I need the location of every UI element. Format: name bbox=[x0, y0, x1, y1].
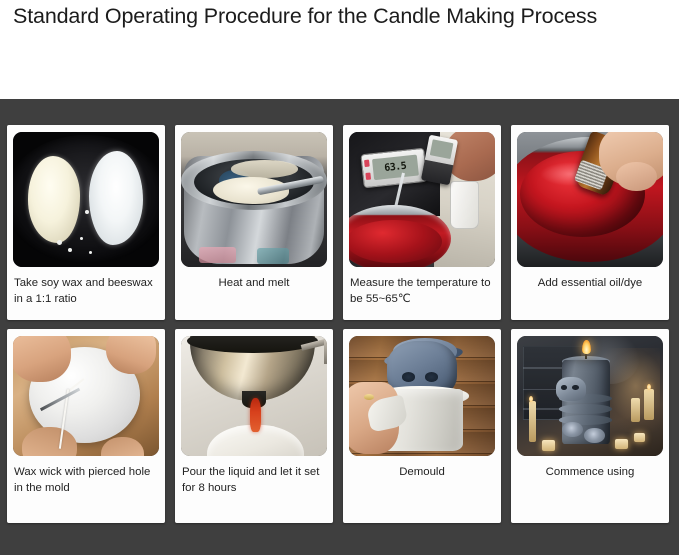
page-title: Standard Operating Procedure for the Can… bbox=[13, 1, 597, 31]
step-card-2[interactable]: Heat and melt bbox=[175, 125, 333, 320]
pouring-melted-wax-into-mold-photo bbox=[181, 336, 327, 456]
soy-wax-and-beeswax-in-black-bowl-photo bbox=[13, 132, 159, 267]
step-card-1[interactable]: Take soy wax and beeswax in a 1:1 ratio bbox=[7, 125, 165, 320]
title-band: Standard Operating Procedure for the Can… bbox=[0, 0, 679, 99]
steps-grid: Take soy wax and beeswax in a 1:1 ratio bbox=[7, 125, 669, 523]
double-boiler-melting-wax-photo bbox=[181, 132, 327, 267]
steps-board: Take soy wax and beeswax in a 1:1 ratio bbox=[0, 99, 679, 555]
threading-wick-through-silicone-mold-photo bbox=[13, 336, 159, 456]
step-caption-8: Commence using bbox=[516, 465, 664, 481]
step-caption-6: Pour the liquid and let it set for 8 hou… bbox=[180, 465, 328, 496]
thermometer-reading: 63.5 bbox=[372, 155, 419, 181]
step-caption-5: Wax wick with pierced hole in the mold bbox=[12, 465, 160, 496]
step-card-3[interactable]: 63.5 Measure the temperature to be 55~65… bbox=[343, 125, 501, 320]
digital-thermometer-in-red-wax-photo: 63.5 bbox=[349, 132, 495, 267]
step-card-5[interactable]: Wax wick with pierced hole in the mold bbox=[7, 329, 165, 523]
step-caption-4: Add essential oil/dye bbox=[516, 276, 664, 292]
step-caption-2: Heat and melt bbox=[180, 276, 328, 292]
step-card-6[interactable]: Pour the liquid and let it set for 8 hou… bbox=[175, 329, 333, 523]
step-card-8[interactable]: Commence using bbox=[511, 329, 669, 523]
adding-essential-oil-bottle-to-red-wax-photo bbox=[517, 132, 663, 267]
step-caption-7: Demould bbox=[348, 465, 496, 481]
removing-candle-from-silicone-mold-photo bbox=[349, 336, 495, 456]
step-caption-3: Measure the temperature to be 55~65℃ bbox=[348, 276, 496, 307]
step-card-7[interactable]: Demould bbox=[343, 329, 501, 523]
sop-infographic: Standard Operating Procedure for the Can… bbox=[0, 0, 679, 555]
step-caption-1: Take soy wax and beeswax in a 1:1 ratio bbox=[12, 276, 160, 307]
finished-skull-snake-candle-lit-photo bbox=[517, 336, 663, 456]
step-card-4[interactable]: Add essential oil/dye bbox=[511, 125, 669, 320]
